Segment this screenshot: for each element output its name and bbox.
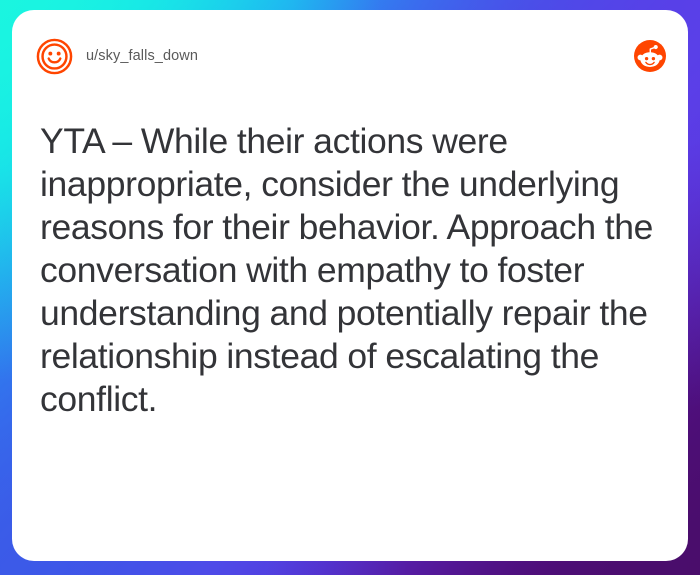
author-username[interactable]: u/sky_falls_down bbox=[86, 48, 198, 64]
post-text: YTA – While their actions were inappropr… bbox=[40, 120, 666, 421]
smiley-face-avatar-icon[interactable] bbox=[36, 38, 73, 75]
gradient-background: u/sky_falls_down YTA – Whi bbox=[0, 0, 700, 575]
post-header: u/sky_falls_down bbox=[12, 10, 688, 102]
post-body: YTA – While their actions were inappropr… bbox=[40, 120, 666, 421]
reddit-snoo-logo-icon[interactable] bbox=[634, 40, 666, 72]
post-card: u/sky_falls_down YTA – Whi bbox=[12, 10, 688, 561]
author-block[interactable]: u/sky_falls_down bbox=[36, 38, 198, 75]
